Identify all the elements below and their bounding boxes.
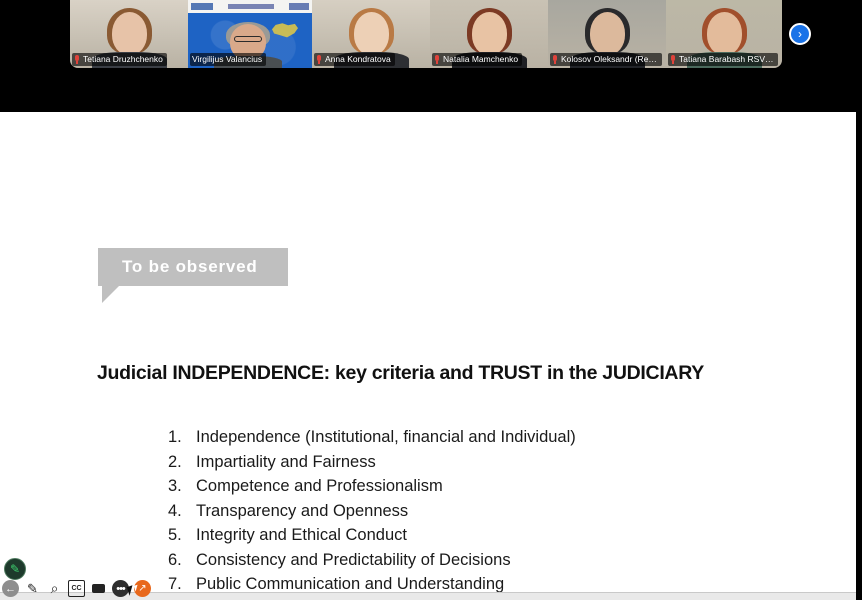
criteria-item-text: Consistency and Predictability of Decisi… bbox=[196, 548, 788, 573]
criteria-list-item: 6.Consistency and Predictability of Deci… bbox=[168, 548, 788, 573]
mic-muted-icon bbox=[316, 55, 322, 64]
participant-name-text: Natalia Mamchenko bbox=[443, 54, 518, 65]
participant-name-label: Tatiana Barabash RSVRU bbox=[668, 53, 778, 66]
criteria-list-item: 3.Competence and Professionalism bbox=[168, 474, 788, 499]
shared-slide-header-strip bbox=[188, 0, 312, 13]
criteria-item-number: 6. bbox=[168, 548, 196, 573]
next-participants-arrow-icon[interactable]: › bbox=[789, 23, 811, 45]
participant-name-text: Kolosov Oleksandr (Research... bbox=[561, 54, 658, 65]
criteria-list: 1.Independence (Institutional, financial… bbox=[168, 425, 788, 597]
participant-name-label: Virgilijus Valancius bbox=[190, 53, 266, 66]
shared-slide: To be observed Judicial INDEPENDENCE: ke… bbox=[0, 112, 856, 592]
pen-tool-active-indicator[interactable]: ✎ bbox=[4, 558, 26, 580]
criteria-list-item: 4.Transparency and Openness bbox=[168, 499, 788, 524]
chevron-right-glyph: › bbox=[798, 28, 802, 40]
participant-tile[interactable]: Natalia Mamchenko bbox=[430, 0, 548, 68]
pen-icon: ✎ bbox=[27, 581, 38, 597]
criteria-list-item: 2.Impartiality and Fairness bbox=[168, 450, 788, 475]
participant-tile[interactable]: Virgilijus Valancius bbox=[188, 0, 312, 68]
participant-name-text: Anna Kondratova bbox=[325, 54, 391, 65]
window-right-strip bbox=[856, 0, 862, 600]
slide-banner: To be observed bbox=[98, 248, 288, 303]
cc-icon: CC bbox=[71, 585, 81, 592]
criteria-item-number: 4. bbox=[168, 499, 196, 524]
participant-name-label: Natalia Mamchenko bbox=[432, 53, 522, 66]
criteria-item-text: Competence and Professionalism bbox=[196, 474, 788, 499]
participant-tile[interactable]: Anna Kondratova bbox=[312, 0, 430, 68]
slide-title: Judicial INDEPENDENCE: key criteria and … bbox=[97, 360, 797, 386]
mic-muted-icon bbox=[434, 55, 440, 64]
mic-muted-icon bbox=[670, 55, 676, 64]
magnifier-icon: ⌕ bbox=[51, 580, 59, 597]
participant-tile[interactable]: Kolosov Oleksandr (Research... bbox=[548, 0, 666, 68]
criteria-item-text: Integrity and Ethical Conduct bbox=[196, 523, 788, 548]
back-button[interactable]: ← bbox=[2, 580, 19, 597]
criteria-item-number: 3. bbox=[168, 474, 196, 499]
pravo-justice-logo bbox=[228, 4, 274, 9]
participant-tile[interactable]: Tatiana Barabash RSVRU bbox=[666, 0, 782, 68]
criteria-item-number: 5. bbox=[168, 523, 196, 548]
criteria-item-number: 2. bbox=[168, 450, 196, 475]
pen-icon: ✎ bbox=[10, 562, 20, 576]
criteria-item-number: 1. bbox=[168, 425, 196, 450]
participant-name-text: Tetiana Druzhchenko bbox=[83, 54, 163, 65]
participant-name-text: Tatiana Barabash RSVRU bbox=[679, 54, 774, 65]
arrow-left-icon: ← bbox=[5, 583, 16, 595]
video-camera-icon bbox=[92, 584, 105, 593]
criteria-list-item: 5.Integrity and Ethical Conduct bbox=[168, 523, 788, 548]
slide-banner-label: To be observed bbox=[98, 248, 288, 286]
criteria-list-item: 1.Independence (Institutional, financial… bbox=[168, 425, 788, 450]
eu-flag-icon bbox=[191, 3, 213, 10]
pen-tool-button[interactable]: ✎ bbox=[24, 580, 41, 597]
criteria-item-text: Impartiality and Fairness bbox=[196, 450, 788, 475]
ellipsis-icon: ••• bbox=[116, 583, 125, 595]
criteria-item-text: Transparency and Openness bbox=[196, 499, 788, 524]
participant-name-label: Tetiana Druzhchenko bbox=[72, 53, 167, 66]
slide-banner-tail bbox=[102, 286, 119, 303]
camera-button[interactable] bbox=[90, 580, 107, 597]
participant-name-label: Anna Kondratova bbox=[314, 53, 395, 66]
mic-muted-icon bbox=[74, 55, 80, 64]
screen-share-viewer: Tetiana DruzhchenkoVirgilijus ValanciusA… bbox=[0, 0, 862, 600]
participant-name-text: Virgilijus Valancius bbox=[192, 54, 262, 65]
partner-logo bbox=[289, 3, 309, 10]
participant-tile[interactable]: Tetiana Druzhchenko bbox=[70, 0, 188, 68]
participant-name-label: Kolosov Oleksandr (Research... bbox=[550, 53, 662, 66]
participant-filmstrip[interactable]: Tetiana DruzhchenkoVirgilijus ValanciusA… bbox=[70, 0, 782, 68]
closed-captions-button[interactable]: CC bbox=[68, 580, 85, 597]
criteria-item-text: Independence (Institutional, financial a… bbox=[196, 425, 788, 450]
mic-muted-icon bbox=[552, 55, 558, 64]
share-arrow-icon: ↗ bbox=[138, 583, 146, 594]
zoom-tool-button[interactable]: ⌕ bbox=[46, 580, 63, 597]
